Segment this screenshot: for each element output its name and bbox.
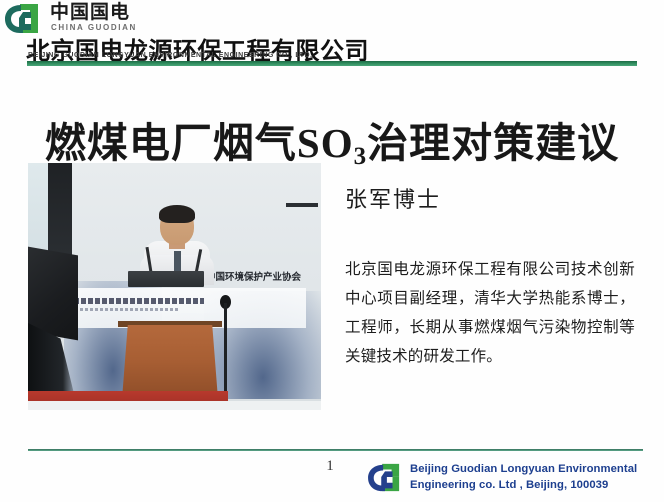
photo-banner-title [74, 298, 204, 304]
photo-projection-screen [28, 247, 78, 341]
speaker-photo: 中国环境保护产业协会 [28, 163, 321, 410]
page-number: 1 [320, 458, 340, 475]
photo-floor [28, 401, 321, 410]
photo-dark-panel [48, 163, 72, 263]
photo-wall-marker [286, 203, 318, 207]
photo-banner-subtitle [80, 308, 180, 311]
brand-name-chinese: 中国国电 [50, 2, 130, 23]
photo-speaker-hair [159, 205, 195, 223]
slide-header: 中国国电 CHINA GUODIAN 北京国电龙源环保工程有限公司 BEIJIN… [0, 0, 664, 68]
photo-podium-body [122, 325, 218, 399]
footer-divider [28, 449, 643, 451]
title-prefix: 燃煤电厂烟气 [45, 120, 297, 166]
photo-backdrop-text: 中国环境保护产业协会 [206, 269, 301, 283]
header-divider [27, 61, 637, 66]
speaker-name: 张军博士 [345, 182, 441, 214]
speaker-bio: 北京国电龙源环保工程有限公司技术创新中心项目副经理，清华大学热能系博士，工程师，… [345, 255, 635, 371]
photo-floor-microphone-pole [224, 303, 227, 399]
footer-company-name: Beijing Guodian Longyuan Environmental E… [410, 462, 660, 493]
company-name-english: BEIJING GUODIAN LONGYUAN ENVIRONMENTAL E… [28, 52, 313, 59]
footer-company-line-1: Beijing Guodian Longyuan Environmental [410, 462, 660, 478]
guodian-longyuan-logo-icon [366, 462, 404, 494]
title-formula-subscript: 3 [354, 143, 368, 170]
photo-podium-desk [128, 271, 204, 287]
footer-company-line-2: Engineering co. Ltd , Beijing, 100039 [410, 478, 660, 494]
page-title: 燃煤电厂烟气SO3治理对策建议 [0, 109, 664, 169]
title-formula: SO [297, 120, 354, 166]
title-suffix: 治理对策建议 [367, 120, 619, 166]
